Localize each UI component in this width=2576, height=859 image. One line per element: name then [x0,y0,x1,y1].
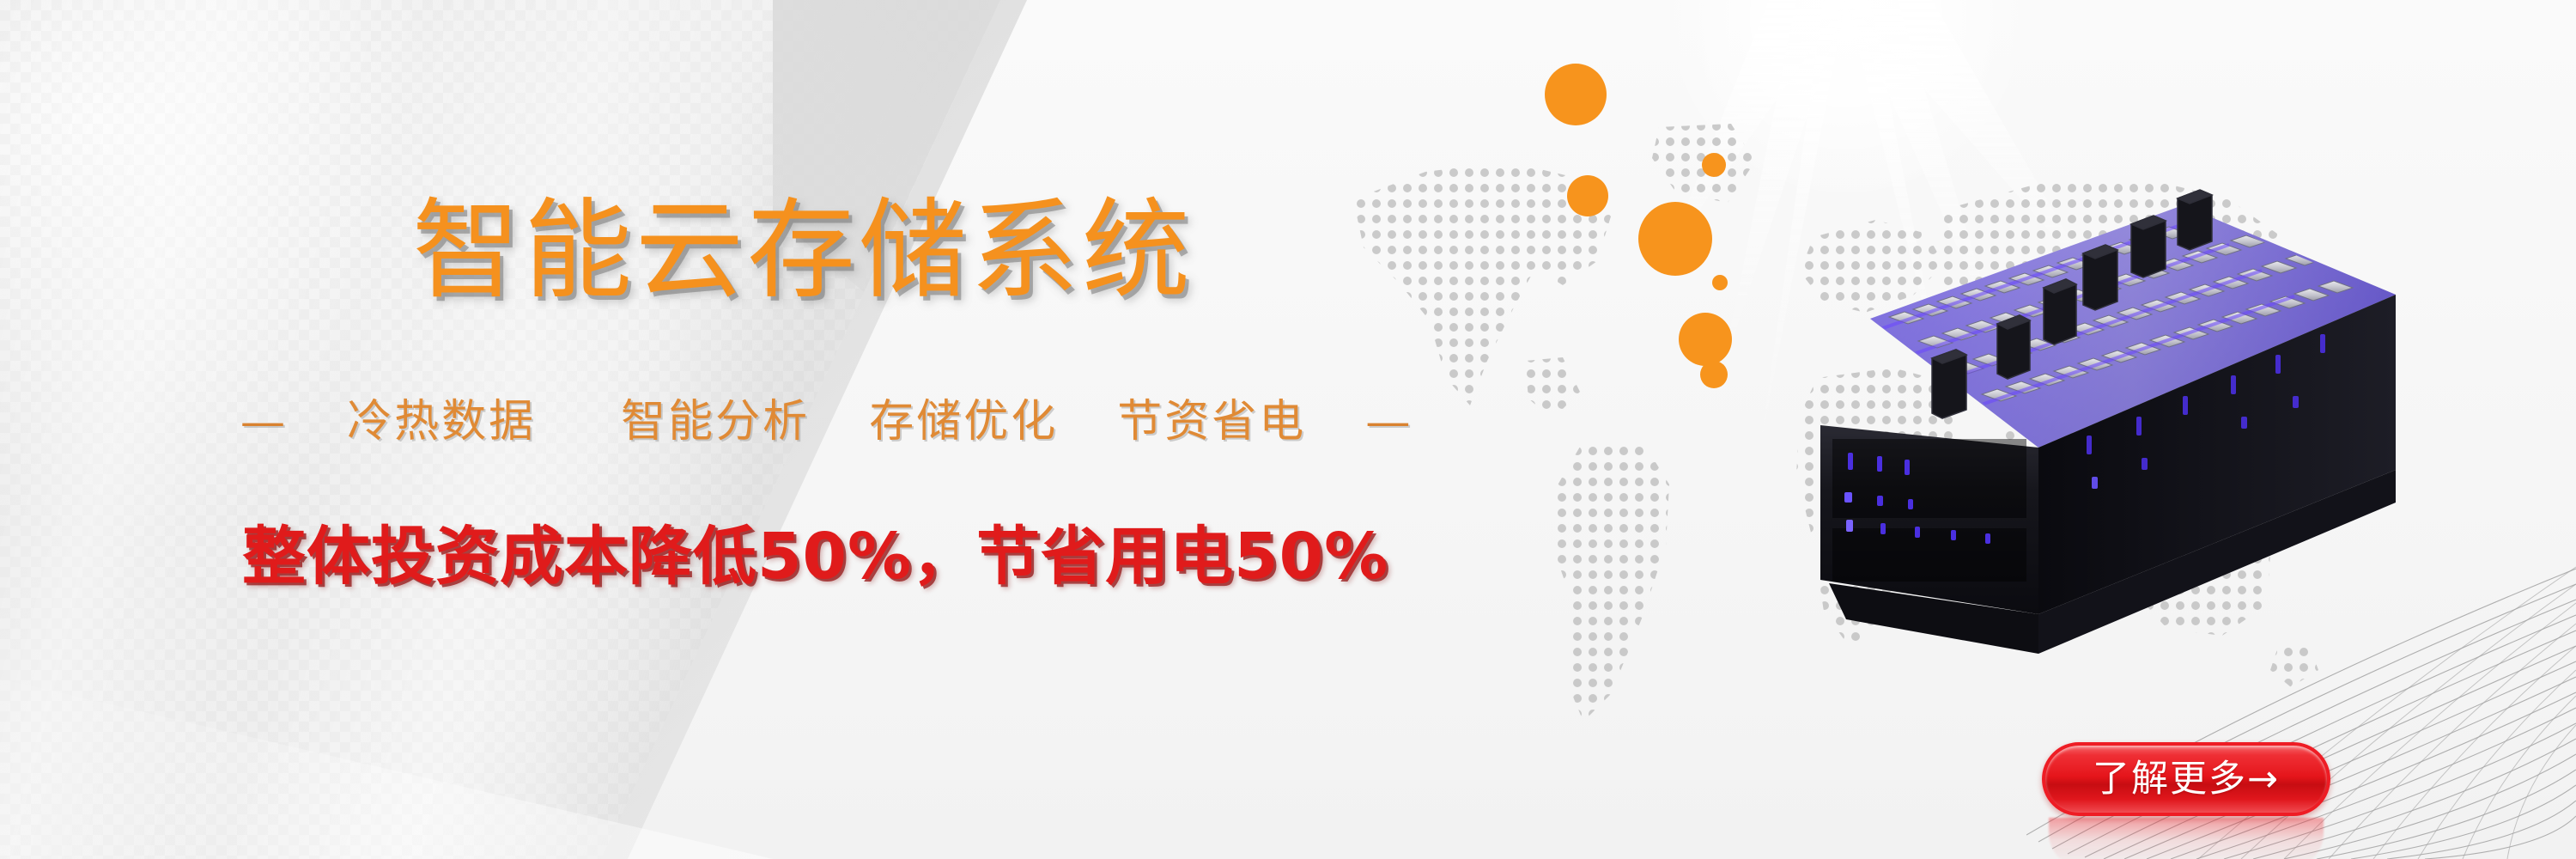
orange-dot [1679,313,1732,366]
feature-item-4: 节资省电 [1117,396,1306,448]
promo-banner: 智能云存储系统 — 冷热数据 智能分析 存储优化 节资省电 — 整体投资成本降低… [0,0,2576,859]
orange-dot [1712,275,1728,290]
headline-text: 整体投资成本降低50%，节省用电50% [242,505,1388,597]
learn-more-button[interactable]: 了解更多→ [2042,742,2330,816]
learn-more-button-label: 了解更多→ [2093,761,2280,798]
orange-dot [1567,175,1608,216]
leading-dash: — [240,396,288,448]
orange-dot [1638,202,1712,276]
orange-dot [1700,361,1728,388]
feature-list: — 冷热数据 智能分析 存储优化 节资省电 — [240,385,1413,449]
feature-item-2: 智能分析 [621,396,810,448]
orange-dot [1702,153,1726,177]
page-title: 智能云存储系统 [412,163,1194,320]
feature-item-3: 存储优化 [869,396,1058,448]
orange-dot [1545,64,1607,125]
trailing-dash: — [1365,396,1413,448]
feature-item-1: 冷热数据 [347,396,536,448]
